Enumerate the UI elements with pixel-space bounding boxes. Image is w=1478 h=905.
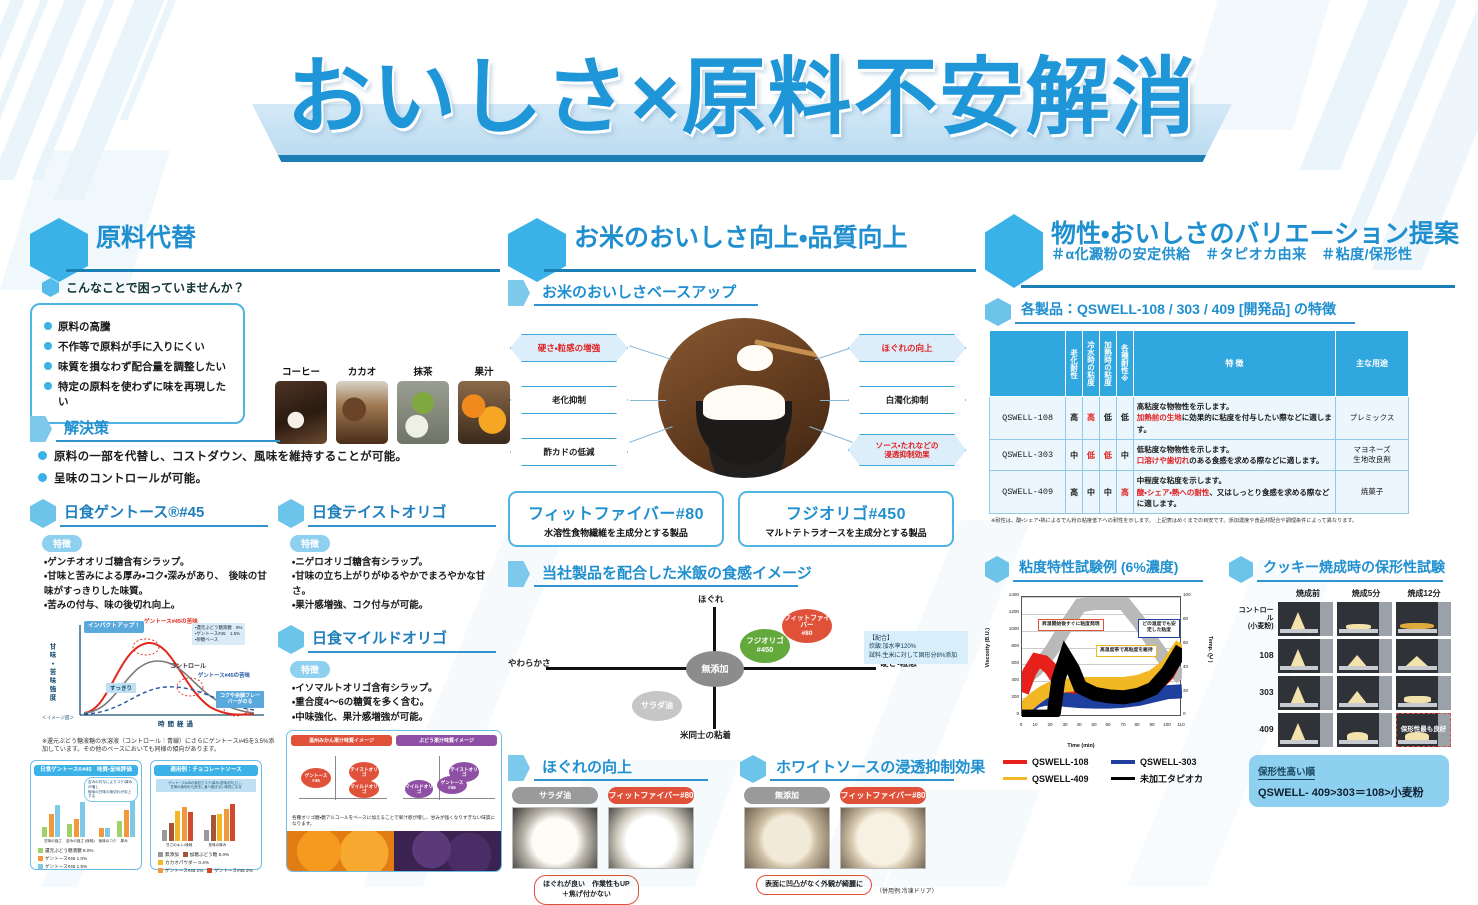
product-oligo-group: 日食テイストオリゴ 特徴 ・ニゲロオリゴ糖含有シラップ。 ・甘味の立ち上がりがゆ… bbox=[278, 492, 496, 872]
cookie-block: クッキー焼成時の保形性試験 焼成前 焼成5分 焼成12分 コントロール (小麦粉… bbox=[1229, 546, 1451, 807]
header-rule bbox=[1021, 285, 1455, 288]
mid-header-text: お米のおいしさ向上・品質向上 bbox=[574, 218, 908, 254]
header-rule bbox=[534, 779, 708, 781]
bar-group bbox=[162, 797, 256, 841]
triangle-icon bbox=[30, 416, 52, 442]
x-tick: 80 bbox=[1134, 722, 1139, 727]
solution-header: 解決策 bbox=[30, 416, 280, 442]
hexagon-icon bbox=[985, 556, 1009, 583]
hexlabel-sauce-penetration: ソース・たれなどの 浸透抑制効果 bbox=[848, 434, 966, 466]
bar-chart-chocolate: 適用例：チョコレートソース ゲントース#45の添加でコク・厚み・苦味が向上し、 … bbox=[150, 760, 262, 870]
juice-image bbox=[458, 381, 510, 444]
fruit-bubble-chart: ゲントース#45 テイストオリゴ マイルドオリゴ テイストオリゴ ゲントース#4… bbox=[287, 750, 501, 812]
rank-value: QSWELL- 409>303＝108>小麦粉 bbox=[1258, 784, 1440, 800]
product-gentose: 日食ゲントース®#45 特徴 ・ゲンチオオリゴ糖含有シラップ。 ・甘味と苦みによ… bbox=[30, 492, 268, 872]
sub-header-text: 粘度特性試験例 (6%濃度) bbox=[1019, 557, 1178, 577]
mid-section-header: お米のおいしさ向上・品質向上 bbox=[508, 218, 976, 270]
header-rule bbox=[60, 525, 268, 528]
hexagon-icon bbox=[985, 298, 1011, 326]
feature-line: ・イソマルトオリゴ含有シラップ。 bbox=[292, 682, 496, 696]
photo-block-loosening: ほぐれの向上 サラダ油 フィットファイバー#80 ほぐれが良い 作業性もUP ＋… bbox=[508, 745, 724, 905]
viscosity-chart: 昇温開始後すぐに粘度発現 高温度帯で高粘度を維持 どの温度でも安定した粘度 14… bbox=[991, 588, 1211, 753]
flavor-coffee: コーヒー bbox=[275, 364, 327, 444]
feature-line: ・甘味と苦みによる厚み・コク・深みがあり、 後味の甘味がすっきりした味質。 bbox=[44, 570, 268, 599]
chip-grape: ぶどう果汁味質イメージ bbox=[396, 735, 497, 746]
fruit-note: 各種オリゴ糖・糖アルコールをベースに加えることで果汁感が増し、甘みが強くなりすぎ… bbox=[287, 812, 501, 831]
sauce-photo-product bbox=[840, 807, 926, 869]
viscosity-block: 粘度特性試験例 (6%濃度) bbox=[985, 546, 1217, 807]
cell-level: 中 bbox=[1099, 471, 1116, 514]
row-label: コントロール (小麦粉) bbox=[1235, 607, 1274, 631]
legend-label: QSWELL-409 bbox=[1032, 774, 1089, 784]
photo-row bbox=[744, 807, 960, 869]
side-note: （併用例:冷凍ドリア） bbox=[876, 886, 938, 895]
callout-loosening: ほぐれが良い 作業性もUP ＋焦げ付かない bbox=[534, 875, 639, 905]
cell-feature: 中程度な粘度を示します。 酸・シェア・熱への耐性、又はしっとり食感を求める際など… bbox=[1133, 471, 1335, 514]
fruit-images bbox=[287, 831, 501, 871]
curve-label-gentose-bitter2: ゲントース#45の苦味 bbox=[198, 673, 250, 679]
y-tick: 400 bbox=[993, 677, 1019, 682]
bubble-gentose: ゲントース#45 bbox=[301, 768, 331, 788]
hexagon-icon bbox=[278, 499, 304, 528]
curve-axis-note: ＜イメージ図＞ bbox=[42, 715, 74, 721]
y2-tick: 100 bbox=[1183, 592, 1203, 597]
orange-image bbox=[287, 831, 394, 871]
th-aging: 老化耐性 bbox=[1066, 331, 1083, 397]
list-item: 特定の原料を使わずに味を再現したい bbox=[44, 379, 233, 409]
bar-x-label: 後味のコク bbox=[99, 839, 117, 844]
cookie-grid: 焼成前 焼成5分 焼成12分 コントロール (小麦粉) 108 bbox=[1235, 588, 1451, 747]
cell-product-name: QSWELL-303 bbox=[990, 439, 1066, 471]
feature-highlight: 口溶けや歯切れ bbox=[1137, 456, 1190, 465]
sauce-photo-control bbox=[744, 807, 830, 869]
legend-item: カカオパウダー 0.4% bbox=[158, 860, 209, 866]
curve-label-sukkiri: すっきり bbox=[106, 683, 136, 693]
curve-label-gentose-bitter: ゲントース#45の苦味 bbox=[144, 619, 198, 626]
feature-line: ・苦みの付与、味の後切れ向上。 bbox=[44, 599, 268, 613]
hexagon-icon bbox=[1229, 556, 1253, 583]
blend-note: 【配合】 炊飯:加水率120% 試料:生米に対して固形分8%添加 bbox=[864, 631, 968, 664]
curve-label-impact: インパクトアップ！ bbox=[84, 621, 144, 633]
tag-row: 無添加 フィットファイバー#80 bbox=[744, 787, 960, 804]
cell-use: プレミックス bbox=[1336, 397, 1409, 440]
cookie-cell bbox=[1278, 676, 1333, 710]
card-desc: 水溶性食物繊維を主成分とする製品 bbox=[514, 526, 718, 539]
cell-level: 低 bbox=[1083, 439, 1100, 471]
sub-header-base-up: お米のおいしさベースアップ bbox=[508, 280, 758, 306]
list-item: 不作等で原料が手に入りにくい bbox=[44, 339, 233, 354]
cell-level: 低 bbox=[1116, 397, 1133, 440]
y-tick: 0 bbox=[993, 711, 1019, 716]
header-rule bbox=[1015, 322, 1355, 324]
tag-control: サラダ油 bbox=[512, 787, 598, 804]
bubble-gentose: ゲントース#45 bbox=[437, 776, 467, 794]
solution-text: 呈味のコントロールが可能。 bbox=[54, 470, 207, 486]
texture-quadrant-chart: ほぐれ 米同士の粘着 やわらかさ 硬さ・粒感 無添加 サラダ油 フジオリゴ #4… bbox=[508, 593, 968, 743]
x-tick: 50 bbox=[1091, 722, 1096, 727]
bar-x-label: 厚み bbox=[121, 839, 128, 844]
list-item: 味質を損なわず配合量を調整したい bbox=[44, 359, 233, 374]
header-rule bbox=[534, 585, 798, 587]
cookie-row-control: コントロール (小麦粉) bbox=[1235, 602, 1451, 636]
question-text: こんなことで困っていませんか？ bbox=[66, 279, 245, 296]
curve-x-axis-title: 時間経過 bbox=[158, 718, 196, 728]
col-header-5min: 焼成5分 bbox=[1339, 588, 1393, 599]
x-tick: 90 bbox=[1149, 722, 1154, 727]
y2-tick: 0 bbox=[1183, 711, 1203, 716]
left-section-header: 原料代替 bbox=[30, 218, 500, 270]
y2-tick: 60 bbox=[1183, 640, 1203, 645]
cell-level: 高 bbox=[1066, 397, 1083, 440]
sub-header-text: 当社製品を配合した米飯の食感イメージ bbox=[542, 562, 812, 583]
flavor-label: カカオ bbox=[336, 364, 388, 378]
triangle-icon bbox=[508, 280, 530, 306]
left-header-text: 原料代替 bbox=[96, 218, 196, 254]
sub-header-texture: 当社製品を配合した米飯の食感イメージ bbox=[508, 561, 798, 587]
bar-chart-title: 適用例：チョコレートソース bbox=[154, 765, 258, 776]
section-texture-variation: 物性・おいしさのバリエーション提案 ＃α化澱粉の安定供給 ＃タピオカ由来 ＃粘度… bbox=[985, 214, 1455, 807]
product-name: 日食ゲントース®#45 bbox=[64, 501, 204, 522]
legend-item: QSWELL-409 bbox=[1003, 772, 1095, 785]
legend-item: ゲントース#45 1.5% bbox=[38, 864, 87, 870]
feature-tag: 特徴 bbox=[42, 535, 82, 552]
cookie-row-409: 409 保形性最も良好 bbox=[1235, 713, 1451, 747]
fruit-taste-panel: 温州みかん果汁味質イメージ ぶどう果汁味質イメージ ゲントース#45 テイストオ… bbox=[286, 730, 502, 872]
cookie-cell bbox=[1278, 713, 1333, 747]
x-tick: 30 bbox=[1062, 722, 1067, 727]
y-tick: 1200 bbox=[993, 609, 1019, 614]
y-tick: 200 bbox=[993, 694, 1019, 699]
axis-label-top: ほぐれ bbox=[698, 593, 724, 605]
legend-item: 加糖ぶどう糖 5.0% bbox=[183, 852, 229, 858]
hexagon-icon bbox=[740, 755, 766, 783]
highlight-label: 保形性最も良好 bbox=[1401, 723, 1447, 733]
cell-use: 焼菓子 bbox=[1336, 471, 1409, 514]
sub-header-text: クッキー焼成時の保形性試験 bbox=[1263, 557, 1445, 577]
cell-level: 高 bbox=[1116, 471, 1133, 514]
th-blank bbox=[990, 331, 1066, 397]
bar-chart-callout: ゲントース#45の添加でコク・厚み・苦味が向上し、 甘味の後切れも良化し食べ飽き… bbox=[156, 779, 256, 792]
hexlabel-loosening: ほぐれの向上 bbox=[848, 334, 966, 362]
y-tick: 800 bbox=[993, 643, 1019, 648]
sub-header-text: 各製品：QSWELL-108 / 303 / 409 [開発品] の特徴 bbox=[1021, 299, 1336, 319]
matcha-image bbox=[397, 381, 449, 444]
chart-plot-area: 昇温開始後すぐに粘度発現 高温度帯で高粘度を維持 どの温度でも安定した粘度 bbox=[1021, 596, 1181, 716]
sub-header-white-sauce: ホワイトソースの浸透抑制効果 bbox=[740, 755, 954, 781]
list-item: 原料の高騰 bbox=[44, 319, 233, 334]
legend-label: QSWELL-108 bbox=[1032, 757, 1089, 767]
rice-photo-control bbox=[512, 807, 598, 869]
cell-level: 低 bbox=[1099, 439, 1116, 471]
cookie-cell bbox=[1278, 639, 1333, 673]
cookie-cell bbox=[1278, 602, 1333, 636]
fruit-chips: 温州みかん果汁味質イメージ ぶどう果汁味質イメージ bbox=[287, 731, 501, 750]
feature-tag: 特徴 bbox=[290, 661, 330, 678]
bullet-icon bbox=[38, 451, 47, 460]
cookie-cell bbox=[1396, 676, 1451, 710]
rank-title: 保形性高い順 bbox=[1258, 764, 1315, 780]
bubble-taste-oligo: テイストオリゴ bbox=[349, 762, 379, 782]
cookie-cell bbox=[1337, 676, 1392, 710]
flavor-label: 果汁 bbox=[458, 364, 510, 378]
chip-mikan: 温州みかん果汁味質イメージ bbox=[291, 735, 392, 746]
col-header-before: 焼成前 bbox=[1281, 588, 1335, 599]
question-line: こんなことで困っていませんか？ bbox=[42, 278, 500, 297]
sub-header-text: ほぐれの向上 bbox=[542, 756, 632, 777]
cell-product-name: QSWELL-108 bbox=[990, 397, 1066, 440]
card-fit-fiber[interactable]: フィットファイバー#80 水溶性食物繊維を主成分とする製品 bbox=[508, 491, 724, 547]
table-row: QSWELL-108 高 高 低 低 高粘度な物物性を示します。 加熱前の生地に… bbox=[990, 397, 1409, 440]
cell-use: マヨネーズ 生地改良剤 bbox=[1336, 439, 1409, 471]
cookie-cell bbox=[1337, 639, 1392, 673]
hexagon-icon bbox=[985, 214, 1043, 288]
section-rice-quality: お米のおいしさ向上・品質向上 お米のおいしさベースアップ 硬さ・粒感の増強 老化… bbox=[508, 218, 976, 905]
bar-x-label: 苦みの強さ (後味) bbox=[66, 839, 95, 844]
chart-annotation-3: どの温度でも安定した粘度 bbox=[1138, 619, 1180, 638]
x-tick: 70 bbox=[1120, 722, 1125, 727]
bar-x-label: 呈味の厚み bbox=[208, 843, 226, 848]
tag-row: サラダ油 フィットファイバー#80 bbox=[512, 787, 724, 804]
bubble-mild-oligo: マイルドオリゴ bbox=[405, 780, 433, 798]
triangle-icon bbox=[508, 561, 530, 587]
solution-text: 原料の一部を代替し、コストダウン、風味を維持することが可能。 bbox=[54, 448, 407, 464]
y-tick: 600 bbox=[993, 660, 1019, 665]
feature-line: ・中味強化、果汁感増強が可能。 bbox=[292, 711, 496, 725]
y-axis-title: Viscosity (B.U.) bbox=[985, 628, 991, 667]
th-heat-viscosity: 加熱時の粘度 bbox=[1099, 331, 1116, 397]
sub-header-loosening: ほぐれの向上 bbox=[508, 755, 708, 781]
hexagon-icon bbox=[30, 499, 56, 528]
hexlabel-vinegar: 酢カドの低減 bbox=[510, 438, 628, 466]
feature-line1: 高粘度な物物性を示します。 bbox=[1137, 402, 1234, 411]
sub-header-text: ホワイトソースの浸透抑制効果 bbox=[776, 756, 985, 777]
legend-item: QSWELL-108 bbox=[1003, 757, 1095, 767]
th-cold-viscosity: 冷水時の粘度 bbox=[1083, 331, 1100, 397]
rice-bowl-image bbox=[658, 318, 830, 478]
solution-item: 呈味のコントロールが可能。 bbox=[38, 470, 500, 486]
legend-label: QSWELL-303 bbox=[1140, 757, 1197, 767]
triangle-icon bbox=[508, 755, 530, 781]
cookie-col-headers: 焼成前 焼成5分 焼成12分 bbox=[1281, 588, 1451, 599]
x-tick: 110 bbox=[1177, 722, 1184, 727]
hexlabel-hardness: 硬さ・粒感の増強 bbox=[510, 334, 628, 362]
flavor-label: コーヒー bbox=[275, 364, 327, 378]
callout-white-sauce: 表面に凹凸がなく外観が綺麗に bbox=[756, 875, 872, 895]
header-rule bbox=[544, 269, 976, 272]
sub-header-cookie: クッキー焼成時の保形性試験 bbox=[1229, 556, 1443, 582]
right-section-header: 物性・おいしさのバリエーション提案 ＃α化澱粉の安定供給 ＃タピオカ由来 ＃粘度… bbox=[985, 214, 1455, 284]
y2-axis-title: Temp. (℃) bbox=[1207, 636, 1213, 663]
x-tick: 10 bbox=[1032, 722, 1037, 727]
taste-curve-chart: インパクトアップ！ ゲントース#45の苦味 コントロール ゲントース#45の苦味… bbox=[40, 617, 268, 735]
feature-line: ・果汁感増強、コク付与が可能。 bbox=[292, 599, 496, 613]
feature-tag: 特徴 bbox=[290, 535, 330, 552]
x-tick: 60 bbox=[1105, 722, 1110, 727]
header-rule bbox=[1257, 580, 1443, 582]
feature-line: ・ニゲロオリゴ糖含有シラップ。 bbox=[292, 556, 496, 570]
legend-item: ゲントース#45 1% bbox=[158, 868, 203, 874]
bar-chart-panels: 日食ゲントース®#45 味質・呈味評価 苦みの付与によりコク・厚みが増し 後味の… bbox=[30, 760, 268, 870]
card-name: フジオリゴ#450 bbox=[744, 500, 948, 524]
x-tick: 100 bbox=[1163, 722, 1171, 727]
bar-legend: 無添加 加糖ぶどう糖 5.0% カカオパウダー 0.4% ゲントース#45 1%… bbox=[158, 852, 258, 874]
bar-x-label: 甘さのキレ・後味 bbox=[166, 843, 192, 848]
x-tick: 0 bbox=[1020, 722, 1023, 727]
highlight-marker: 保形性最も良好 bbox=[1396, 713, 1451, 747]
legend-item: 無添加 bbox=[158, 852, 179, 858]
section-raw-material-substitution: 原料代替 こんなことで困っていませんか？ 原料の高騰 不作等で原料が手に入りにく… bbox=[30, 218, 500, 872]
sub-header-text: お米のおいしさベースアップ bbox=[542, 281, 736, 302]
legend-item: ゲントース#45 1.0% bbox=[38, 856, 87, 862]
feature-line: ・甘味の立ち上がりがゆるやかでまろやかな甘さ。 bbox=[292, 570, 496, 599]
flavor-juice: 果汁 bbox=[458, 364, 510, 444]
row-label: 409 bbox=[1235, 725, 1274, 735]
chart-legend: QSWELL-108 QSWELL-303 QSWELL-409 未加工タピオカ bbox=[1003, 757, 1223, 785]
y-tick: 1400 bbox=[993, 592, 1019, 597]
hexagon-icon bbox=[278, 625, 304, 654]
cell-feature: 高粘度な物物性を示します。 加熱前の生地に効果的に粘度を付与したい際などに適しま… bbox=[1133, 397, 1335, 440]
curve-legend-note: ・還元ぶどう糖液糖 8% ・ゲントース#45 1.5% ・砂糖ベース bbox=[192, 623, 245, 645]
cell-level: 低 bbox=[1099, 397, 1116, 440]
bar-legend: 還元ぶどう糖液糖 8.0% ゲントース#45 1.0% ゲントース#45 1.5… bbox=[38, 848, 138, 870]
curve-y-axis-title: 甘味・苦味強度 bbox=[46, 643, 56, 703]
cookie-cell bbox=[1337, 713, 1392, 747]
cell-feature: 低粘度な物物性を示します。 口溶けや歯切れのある食感を求める際などに適します。 bbox=[1133, 439, 1335, 471]
x-axis-title: Time (min) bbox=[1067, 743, 1094, 749]
solution-item: 原料の一部を代替し、コストダウン、風味を維持することが可能。 bbox=[38, 448, 500, 464]
tag-product: フィットファイバー#80 bbox=[840, 787, 926, 804]
legend-item: ゲントース#45 2% bbox=[207, 868, 252, 874]
bullet-icon bbox=[38, 473, 47, 482]
rice-bite bbox=[737, 345, 773, 371]
legend-item: QSWELL-303 bbox=[1111, 757, 1203, 767]
cell-level: 高 bbox=[1083, 397, 1100, 440]
x-tick: 20 bbox=[1047, 722, 1052, 727]
legend-label: 未加工タピオカ bbox=[1140, 772, 1203, 785]
hexlabel-retrogradation: 老化抑制 bbox=[510, 386, 628, 414]
tag-control: 無添加 bbox=[744, 787, 830, 804]
y-tick: 1000 bbox=[993, 626, 1019, 631]
header-rule bbox=[770, 779, 954, 781]
cell-level: 中 bbox=[1066, 439, 1083, 471]
bar-chart-title: 日食ゲントース®#45 味質・呈味評価 bbox=[34, 765, 138, 776]
curve-label-koku: コクや余韻フレーバーがのる bbox=[216, 691, 264, 708]
legend-item: 還元ぶどう糖液糖 8.0% bbox=[38, 848, 94, 854]
header-rule bbox=[66, 269, 500, 272]
flavor-label: 抹茶 bbox=[397, 364, 449, 378]
tag-product: フィットファイバー#80 bbox=[608, 787, 694, 804]
flavor-image-row: コーヒー カカオ 抹茶 果汁 bbox=[275, 364, 510, 444]
product-spec-table: 老化耐性 冷水時の粘度 加熱時の粘度 各種耐性※ 特 徴 主な用途 QSWELL… bbox=[989, 330, 1409, 514]
product-name: 日食テイストオリゴ bbox=[312, 501, 447, 522]
rice bbox=[703, 385, 786, 420]
chart-annotation-2: 高温度帯で高粘度を維持 bbox=[1096, 645, 1157, 657]
cell-level: 高 bbox=[1066, 471, 1083, 514]
chart-annotation-1: 昇温開始後すぐに粘度発現 bbox=[1038, 619, 1104, 631]
card-desc: マルトテトラオースを主成分とする製品 bbox=[744, 526, 948, 539]
sub-header-products: 各製品：QSWELL-108 / 303 / 409 [開発品] の特徴 bbox=[985, 298, 1355, 324]
flavor-cacao: カカオ bbox=[336, 364, 388, 444]
cookie-cell-highlighted: 保形性最も良好 bbox=[1396, 713, 1451, 747]
curve-label-control: コントロール bbox=[170, 661, 206, 670]
rank-box: 保形性高い順 QSWELL- 409>303＝108>小麦粉 bbox=[1249, 755, 1449, 807]
grape-image bbox=[394, 831, 501, 871]
poster-title: おいしさ×原料不安解消 bbox=[252, 50, 1232, 168]
cacao-image bbox=[336, 381, 388, 444]
header-rule bbox=[308, 651, 496, 654]
hexagon-icon bbox=[508, 218, 566, 282]
row-label: 108 bbox=[1235, 651, 1274, 661]
table-footnote: ※耐性は、酸・シェア・熱によるでん粉の粘度低下への耐性を示します。 上記表はめく… bbox=[991, 517, 1455, 524]
feature-line2: のある食感を求める際などに適します。 bbox=[1189, 456, 1323, 465]
product-header: 日食テイストオリゴ bbox=[278, 501, 496, 525]
cookie-cell bbox=[1396, 639, 1451, 673]
bubble-no-additive: 無添加 bbox=[686, 651, 744, 687]
th-uses: 主な用途 bbox=[1336, 331, 1409, 397]
cookie-cell bbox=[1396, 602, 1451, 636]
bubble-fit-fiber: フィットファイバー #80 bbox=[782, 609, 832, 643]
bar-x-label: 甘味の強さ bbox=[44, 839, 62, 844]
problem-list: 原料の高騰 不作等で原料が手に入りにくい 味質を損なわず配合量を調整したい 特定… bbox=[30, 303, 245, 424]
feature-line1: 中程度な粘度を示します。 bbox=[1137, 476, 1226, 485]
header-rule bbox=[1013, 580, 1203, 582]
product-header: 日食ゲントース®#45 bbox=[30, 501, 268, 525]
coffee-image bbox=[275, 381, 327, 444]
y2-tick: 20 bbox=[1183, 688, 1203, 693]
y2-tick: 40 bbox=[1183, 664, 1203, 669]
cookie-row-108: 108 bbox=[1235, 639, 1451, 673]
mid-product-cards: フィットファイバー#80 水溶性食物繊維を主成分とする製品 フジオリゴ#450 … bbox=[508, 491, 976, 547]
feature-line: ・重合度4～6の糖質を多く含む。 bbox=[292, 696, 496, 710]
card-fuji-oligo[interactable]: フジオリゴ#450 マルトテトラオースを主成分とする製品 bbox=[738, 491, 954, 547]
hexlabel-whitening: 白濁化抑制 bbox=[848, 386, 966, 414]
table-header-row: 老化耐性 冷水時の粘度 加熱時の粘度 各種耐性※ 特 徴 主な用途 bbox=[990, 331, 1409, 397]
cookie-row-303: 303 bbox=[1235, 676, 1451, 710]
bubble-salad-oil: サラダ油 bbox=[632, 691, 682, 721]
bubble-mild-oligo: マイルドオリゴ bbox=[349, 780, 379, 798]
header-rule bbox=[56, 440, 280, 442]
cell-level: 中 bbox=[1116, 439, 1133, 471]
y2-tick: 80 bbox=[1183, 616, 1203, 621]
row-label: 303 bbox=[1235, 688, 1274, 698]
header-rule bbox=[308, 525, 496, 528]
product-name: 日食マイルドオリゴ bbox=[312, 627, 447, 648]
feature-line1: 低粘度な物物性を示します。 bbox=[1137, 445, 1234, 454]
bar-chart-callout: 苦みの付与によりコク・厚みが増し 後味の甘味の後切れが向上する bbox=[84, 777, 138, 802]
cell-level: 中 bbox=[1083, 471, 1100, 514]
page-title: おいしさ×原料不安解消 bbox=[252, 50, 1232, 144]
curve-footnote: ※還元ぶどう糖液糖の水溶液（コントロール：青線）にさらにゲントース#45を3.5… bbox=[42, 738, 277, 754]
hexagon-icon bbox=[30, 218, 88, 282]
rice-photo-product bbox=[608, 807, 694, 869]
table-row: QSWELL-303 中 低 低 中 低粘度な物物性を示します。 口溶けや歯切れ… bbox=[990, 439, 1409, 471]
photo-block-white-sauce: ホワイトソースの浸透抑制効果 無添加 フィットファイバー#80 表面に凹凸がなく… bbox=[740, 745, 960, 905]
card-name: フィットファイバー#80 bbox=[514, 500, 718, 524]
x-tick: 40 bbox=[1076, 722, 1081, 727]
col-header-12min: 焼成12分 bbox=[1397, 588, 1451, 599]
right-header-hashtags: ＃α化澱粉の安定供給 ＃タピオカ由来 ＃粘度/保形性 bbox=[1051, 244, 1413, 264]
feature-highlight: 加熱前の生地 bbox=[1137, 413, 1182, 422]
legend-item: 未加工タピオカ bbox=[1111, 772, 1203, 785]
table-row: QSWELL-409 高 中 中 高 中程度な粘度を示します。 酸・シェア・熱へ… bbox=[990, 471, 1409, 514]
header-rule bbox=[534, 304, 758, 306]
sub-header-viscosity: 粘度特性試験例 (6%濃度) bbox=[985, 556, 1203, 582]
th-features: 特 徴 bbox=[1133, 331, 1335, 397]
bar-chart-gentose: 日食ゲントース®#45 味質・呈味評価 苦みの付与によりコク・厚みが増し 後味の… bbox=[30, 760, 142, 870]
photo-row bbox=[512, 807, 724, 869]
hex-bullet-icon bbox=[42, 278, 59, 297]
flavor-matcha: 抹茶 bbox=[397, 364, 449, 444]
